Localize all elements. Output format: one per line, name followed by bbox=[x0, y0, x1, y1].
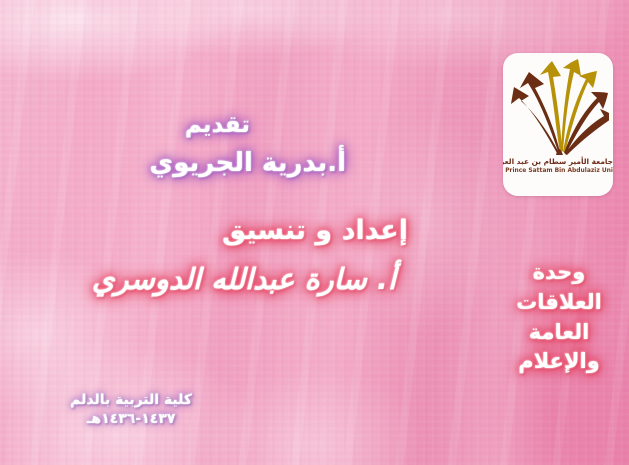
university-palm-fan-logo bbox=[507, 59, 609, 157]
footer-college: كلية التربية بالدلم bbox=[70, 391, 192, 410]
unit-line-1: وحدة bbox=[499, 258, 619, 288]
preparation-label: إعداد و تنسيق bbox=[222, 215, 408, 247]
university-logo-card: جامعة الأمير سطام بن عبد العزيز Prince S… bbox=[503, 53, 613, 196]
presentation-slide: تقديم أ.بدرية الجريوي إعداد و تنسيق أ. س… bbox=[0, 0, 629, 465]
unit-line-4: والإعلام bbox=[499, 347, 619, 377]
unit-name-block: وحدة العلاقات العامة والإعلام bbox=[499, 258, 619, 377]
logo-name-english: Prince Sattam Bin Abdulaziz University bbox=[505, 167, 611, 175]
presenter-name: أ.بدرية الجريوي bbox=[149, 148, 346, 179]
footer-academic-year: ١٤٣٧-١٤٣٦هـ bbox=[70, 410, 192, 429]
logo-text-block: جامعة الأمير سطام بن عبد العزيز Prince S… bbox=[503, 157, 613, 175]
presenter-label: تقديم bbox=[185, 112, 250, 139]
unit-line-3: العامة bbox=[499, 318, 619, 348]
unit-line-2: العلاقات bbox=[499, 288, 619, 318]
footer-block: كلية التربية بالدلم ١٤٣٧-١٤٣٦هـ bbox=[70, 391, 192, 429]
preparation-author-name: أ. سارة عبدالله الدوسري bbox=[92, 262, 396, 296]
logo-name-arabic: جامعة الأمير سطام بن عبد العزيز bbox=[503, 157, 613, 166]
